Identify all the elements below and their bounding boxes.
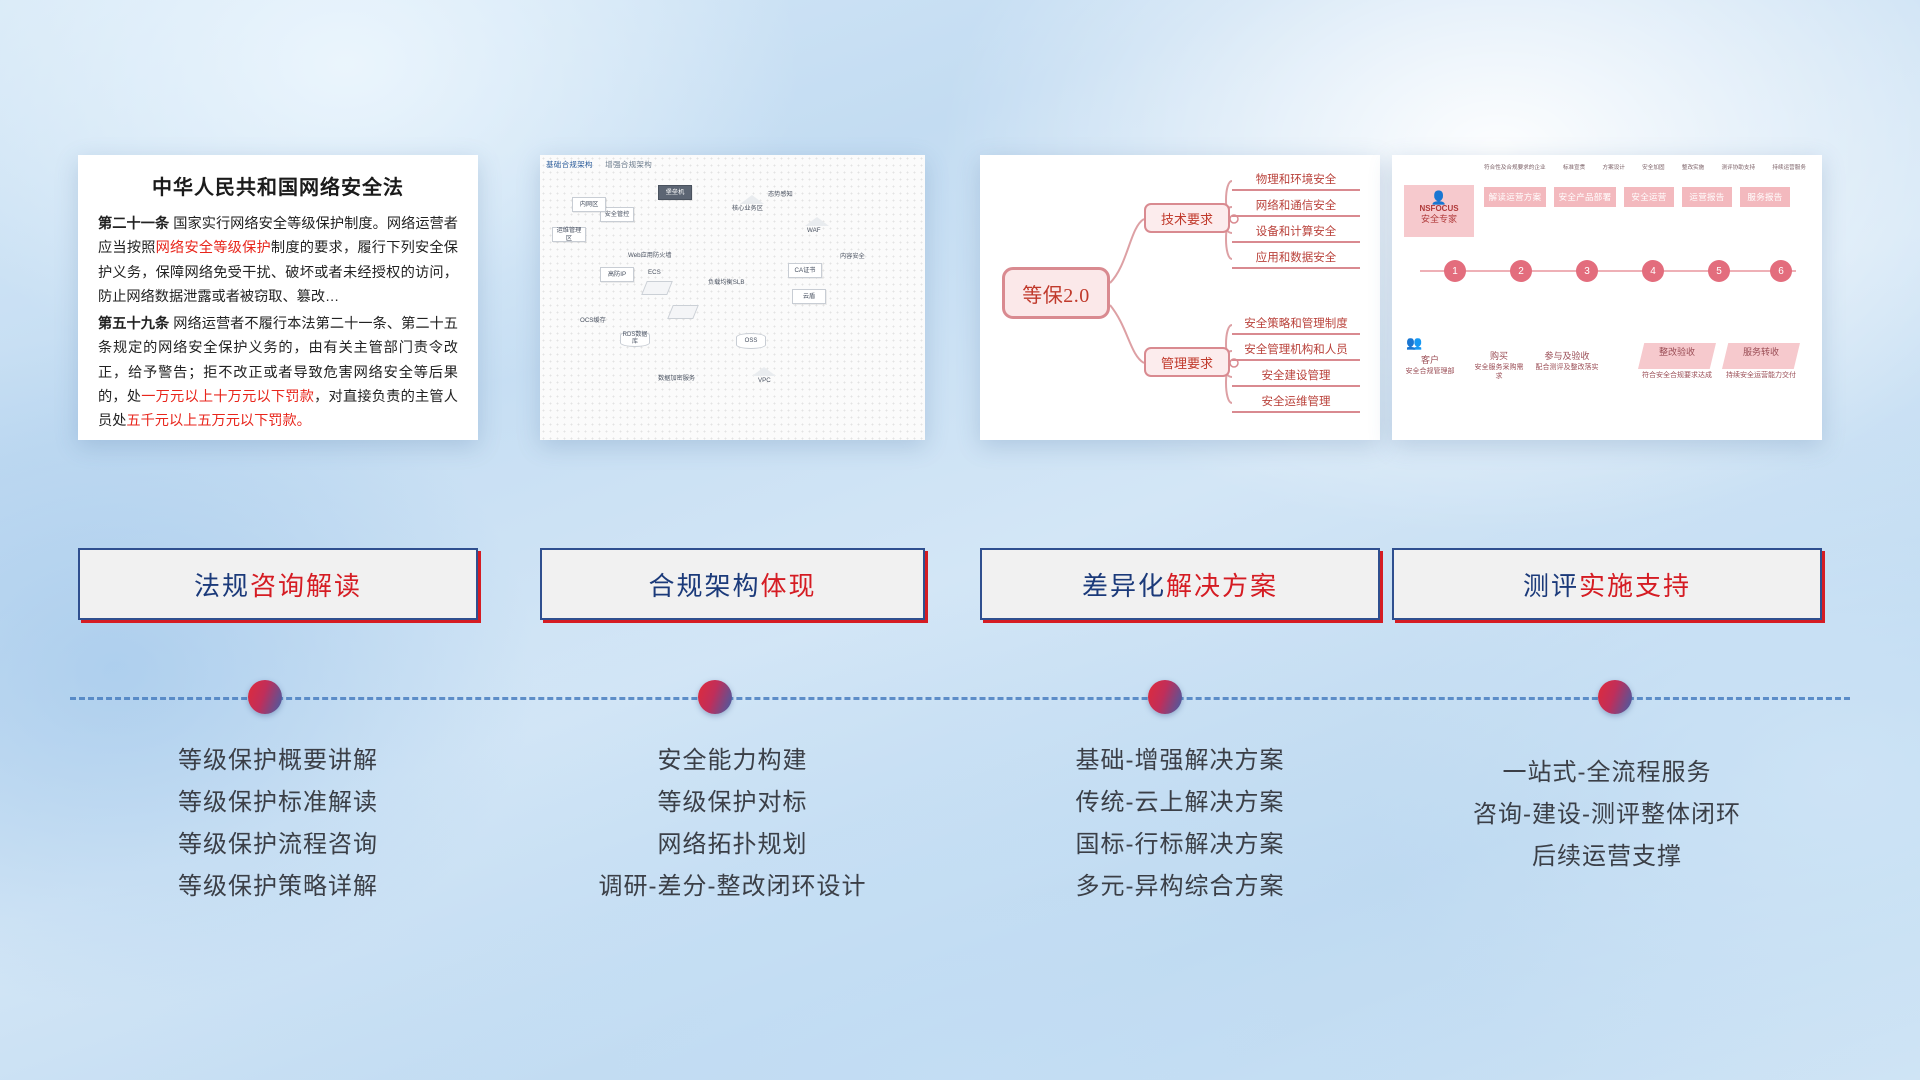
- mindmap: 等保2.0 技术要求 物理和环境安全 网络和通信安全 设备和计算安全 应用和数据…: [980, 155, 1380, 440]
- law-article-21: 第二十一条 国家实行网络安全等级保护制度。网络运营者应当按照网络安全等级保护制度…: [98, 212, 458, 310]
- list-item: 等级保护概要讲解: [78, 740, 478, 782]
- nsfocus-bottom-tag-2-title: 整改验收: [1638, 347, 1716, 359]
- arch-node-vpc: VPC: [752, 367, 776, 376]
- nsfocus-bottom-tag-2-sub: 符合安全合规要求达成: [1634, 371, 1720, 380]
- arch-label-vpc: VPC: [758, 377, 771, 384]
- nsfocus-customer-label: 客户 安全合规管理部: [1398, 355, 1462, 376]
- article-59-highlight-2: 五千元以上五万元以下罚款。: [126, 413, 310, 429]
- nsfocus-bottom-tag-0-sub: 安全服务采购需求: [1474, 363, 1524, 381]
- arch-box-yundun: 云盾: [792, 289, 826, 304]
- arch-box-ca: CA证书: [788, 263, 822, 278]
- arch-cube-vpc: [752, 367, 776, 376]
- arch-node-slb-box: [670, 305, 696, 319]
- card-cybersecurity-law: 中华人民共和国网络安全法 第二十一条 国家实行网络安全等级保护制度。网络运营者应…: [78, 155, 478, 440]
- nsfocus-bottom-tag-1-sub: 配合测评及整改落实: [1534, 363, 1600, 372]
- arch-node-rds: RDS数据库: [620, 331, 650, 347]
- arch-label-content-security: 内容安全: [840, 251, 865, 260]
- law-article-59: 第五十九条 网络运营者不履行本法第二十一条、第二十五条规定的网络安全保护义务的，…: [98, 312, 458, 434]
- mindmap-leaf-physical-env: 物理和环境安全: [1232, 171, 1360, 191]
- law-card-content: 中华人民共和国网络安全法 第二十一条 国家实行网络安全等级保护制度。网络运营者应…: [78, 155, 478, 446]
- arch-label-data-encryption: 数据加密服务: [658, 373, 695, 382]
- nsfocus-bottom-tag-0-title: 购买: [1474, 351, 1524, 363]
- nsfocus-brand-badge: 👤 NSFOCUS 安全专家: [1404, 185, 1474, 237]
- arch-diamond-slb: [667, 305, 699, 319]
- nsfocus-brand-name: NSFOCUS: [1404, 204, 1474, 214]
- nsfocus-timeline-line: [1420, 270, 1796, 272]
- nsfocus-bottom-tag-3-sub-wrap: 持续安全运营能力交付: [1718, 371, 1804, 380]
- mindmap-root-node: 等保2.0: [1002, 267, 1110, 319]
- list-item: 一站式-全流程服务: [1392, 752, 1822, 794]
- arch-node-ca: CA证书: [788, 263, 822, 278]
- service-list-architecture: 安全能力构建 等级保护对标 网络拓扑规划 调研-差分-整改闭环设计: [540, 740, 925, 908]
- nsfocus-step-1: 1: [1444, 260, 1466, 282]
- list-item: 咨询-建设-测评整体闭环: [1392, 794, 1822, 836]
- nsfocus-bottom-tag-1-title: 参与及验收: [1534, 351, 1600, 363]
- service-list-regulation: 等级保护概要讲解 等级保护标准解读 等级保护流程咨询 等级保护策略详解: [78, 740, 478, 908]
- architecture-tabs: 基础合规架构 增强合规架构: [546, 159, 662, 170]
- mindmap-leaf-policy-system: 安全策略和管理制度: [1232, 315, 1360, 335]
- nsfocus-step-2: 2: [1510, 260, 1532, 282]
- arch-label-core-business: 核心业务区: [732, 205, 763, 212]
- arch-node-intranet: 内网区: [572, 197, 606, 212]
- article-21-label: 第二十一条: [98, 216, 169, 232]
- arch-label-waf-short: WAF: [807, 227, 821, 234]
- nsfocus-step-3: 3: [1576, 260, 1598, 282]
- nsfocus-bottom-tag-3-title: 服务转收: [1722, 347, 1800, 359]
- timeline-dashed-line: [70, 697, 1850, 700]
- banner-1-blue: 合规架构: [648, 566, 760, 603]
- arch-cylinder-rds: RDS数据库: [620, 331, 650, 347]
- mindmap-leaf-app-data: 应用和数据安全: [1232, 249, 1360, 269]
- arch-node-ops-zone: 运维管理区: [552, 227, 586, 242]
- architecture-diagram: 基础合规架构 增强合规架构 堡垒机 安全管控 内网区 运维管理区 核心业务区 W…: [540, 155, 925, 440]
- nsfocus-step-4: 4: [1642, 260, 1664, 282]
- nsfocus-note-1: 标准宣贯: [1563, 163, 1585, 171]
- mindmap-leaf-network-comm: 网络和通信安全: [1232, 197, 1360, 217]
- nsfocus-bottom-tag-2: 整改验收: [1638, 347, 1716, 359]
- list-item: 网络拓扑规划: [540, 824, 925, 866]
- tab-enhanced-architecture[interactable]: 增强合规架构: [605, 160, 652, 169]
- nsfocus-customer-icon: 👥: [1406, 335, 1422, 351]
- banner-2-blue: 差异化: [1082, 566, 1166, 603]
- mindmap-leaf-device-compute: 设备和计算安全: [1232, 223, 1360, 243]
- banner-0-blue: 法规: [194, 566, 250, 603]
- list-item: 调研-差分-整改闭环设计: [540, 866, 925, 908]
- timeline-dot-1[interactable]: [248, 680, 282, 714]
- arch-cube-core: [740, 195, 764, 204]
- list-item: 传统-云上解决方案: [980, 782, 1380, 824]
- nsfocus-note-2: 方案设计: [1603, 163, 1625, 171]
- nsfocus-chip-3: 运营报告: [1682, 187, 1732, 207]
- banner-2-red: 解决方案: [1166, 566, 1278, 603]
- nsfocus-chip-1: 安全产品部署: [1554, 187, 1616, 207]
- timeline-dot-3[interactable]: [1148, 680, 1182, 714]
- list-item: 等级保护对标: [540, 782, 925, 824]
- nsfocus-bottom-tag-3-sub: 持续安全运营能力交付: [1718, 371, 1804, 380]
- service-list-solution: 基础-增强解决方案 传统-云上解决方案 国标-行标解决方案 多元-异构综合方案: [980, 740, 1380, 908]
- nsfocus-note-4: 整改实施: [1682, 163, 1704, 171]
- law-title: 中华人民共和国网络安全法: [98, 171, 458, 200]
- arch-cube-waf: [805, 217, 829, 226]
- arch-label-waf: Web应用防火墙: [628, 250, 672, 259]
- list-item: 安全能力构建: [540, 740, 925, 782]
- arch-label-situation-awareness: 态势感知: [768, 189, 793, 198]
- arch-label-slb: 负载均衡SLB: [708, 277, 744, 286]
- arch-node-oss: OSS: [736, 333, 766, 349]
- nsfocus-bottom-tag-0: 购买 安全服务采购需求: [1474, 351, 1524, 381]
- nsfocus-chip-2: 安全运营: [1624, 187, 1674, 207]
- arch-node-yundun: 云盾: [792, 289, 826, 304]
- arch-node-hidefense: 高防IP: [600, 267, 634, 282]
- arch-node-bastion: 堡垒机: [658, 185, 692, 200]
- nsfocus-customer-sub: 安全合规管理部: [1398, 367, 1462, 376]
- banner-0-red: 咨询解读: [250, 566, 362, 603]
- timeline-dot-4[interactable]: [1598, 680, 1632, 714]
- mindmap-branch-management: 管理要求: [1144, 347, 1230, 377]
- mindmap-leaf-ops-mgmt: 安全运维管理: [1232, 393, 1360, 413]
- nsfocus-top-notes: 符合性及合规要求的企业 标准宣贯 方案设计 安全加固 整改实施 测评协助支持 持…: [1484, 163, 1806, 171]
- nsfocus-note-5: 测评协助支持: [1722, 163, 1756, 171]
- arch-node-waf2: WAF: [805, 217, 829, 226]
- card-nsfocus-service-timeline: 👤 NSFOCUS 安全专家 符合性及合规要求的企业 标准宣贯 方案设计 安全加…: [1392, 155, 1822, 440]
- arch-box-ops-zone: 运维管理区: [552, 227, 586, 242]
- card-mindmap-dengbao: 等保2.0 技术要求 物理和环境安全 网络和通信安全 设备和计算安全 应用和数据…: [980, 155, 1380, 440]
- banner-regulation-consulting[interactable]: 法规咨询解读: [78, 548, 478, 620]
- arch-box-bastion: 堡垒机: [658, 185, 692, 200]
- nsfocus-bottom-tag-3: 服务转收: [1722, 347, 1800, 359]
- nsfocus-brand-sub: 安全专家: [1404, 214, 1474, 226]
- cards-row: 中华人民共和国网络安全法 第二十一条 国家实行网络安全等级保护制度。网络运营者应…: [0, 0, 1920, 420]
- arch-box-intranet: 内网区: [572, 197, 606, 212]
- nsfocus-customer-title: 客户: [1398, 355, 1462, 367]
- nsfocus-diagram: 👤 NSFOCUS 安全专家 符合性及合规要求的企业 标准宣贯 方案设计 安全加…: [1392, 155, 1822, 440]
- tab-basic-architecture[interactable]: 基础合规架构: [546, 160, 593, 169]
- arch-label-ecs: ECS: [648, 269, 661, 276]
- list-item: 等级保护策略详解: [78, 866, 478, 908]
- arch-node-core-business: 核心业务区: [740, 195, 764, 204]
- nsfocus-bottom-tag-2-sub-wrap: 符合安全合规要求达成: [1634, 371, 1720, 380]
- list-item: 国标-行标解决方案: [980, 824, 1380, 866]
- arch-diamond-ecs: [641, 281, 673, 295]
- article-59-highlight-1: 一万元以上十万元以下罚款: [141, 389, 314, 405]
- arch-node-ecs: ECS: [644, 281, 670, 295]
- mindmap-branch-technical: 技术要求: [1144, 203, 1230, 233]
- nsfocus-step-5: 5: [1708, 260, 1730, 282]
- nsfocus-chip-4: 服务报告: [1740, 187, 1790, 207]
- service-list-assessment: 一站式-全流程服务 咨询-建设-测评整体闭环 后续运营支撑: [1392, 752, 1822, 878]
- nsfocus-person-icon: 👤: [1404, 191, 1474, 204]
- banner-differentiated-solution[interactable]: 差异化解决方案: [980, 548, 1380, 620]
- nsfocus-bottom-tag-1: 参与及验收 配合测评及整改落实: [1534, 351, 1600, 372]
- nsfocus-note-0: 符合性及合规要求的企业: [1484, 163, 1546, 171]
- list-item: 多元-异构综合方案: [980, 866, 1380, 908]
- article-59-label: 第五十九条: [98, 316, 169, 332]
- nsfocus-step-6: 6: [1770, 260, 1792, 282]
- banner-3-red: 实施支持: [1579, 566, 1691, 603]
- timeline-dot-2[interactable]: [698, 680, 732, 714]
- banner-compliance-architecture[interactable]: 合规架构体现: [540, 548, 925, 620]
- list-item: 等级保护流程咨询: [78, 824, 478, 866]
- mindmap-leaf-org-personnel: 安全管理机构和人员: [1232, 341, 1360, 361]
- banner-1-red: 体现: [761, 566, 817, 603]
- arch-label-ocs: OCS缓存: [580, 315, 606, 324]
- arch-cylinder-oss: OSS: [736, 333, 766, 349]
- nsfocus-chip-0: 解读运营方案: [1484, 187, 1546, 207]
- article-21-highlight: 网络安全等级保护: [156, 240, 271, 256]
- banner-assessment-support[interactable]: 测评实施支持: [1392, 548, 1822, 620]
- list-item: 基础-增强解决方案: [980, 740, 1380, 782]
- nsfocus-note-6: 持续运营服务: [1772, 163, 1806, 171]
- list-item: 等级保护标准解读: [78, 782, 478, 824]
- nsfocus-note-3: 安全加固: [1642, 163, 1664, 171]
- mindmap-leaf-construction-mgmt: 安全建设管理: [1232, 367, 1360, 387]
- list-item: 后续运营支撑: [1392, 836, 1822, 878]
- arch-box-hidefense: 高防IP: [600, 267, 634, 282]
- banner-3-blue: 测评: [1523, 566, 1579, 603]
- card-compliance-architecture: 基础合规架构 增强合规架构 堡垒机 安全管控 内网区 运维管理区 核心业务区 W…: [540, 155, 925, 440]
